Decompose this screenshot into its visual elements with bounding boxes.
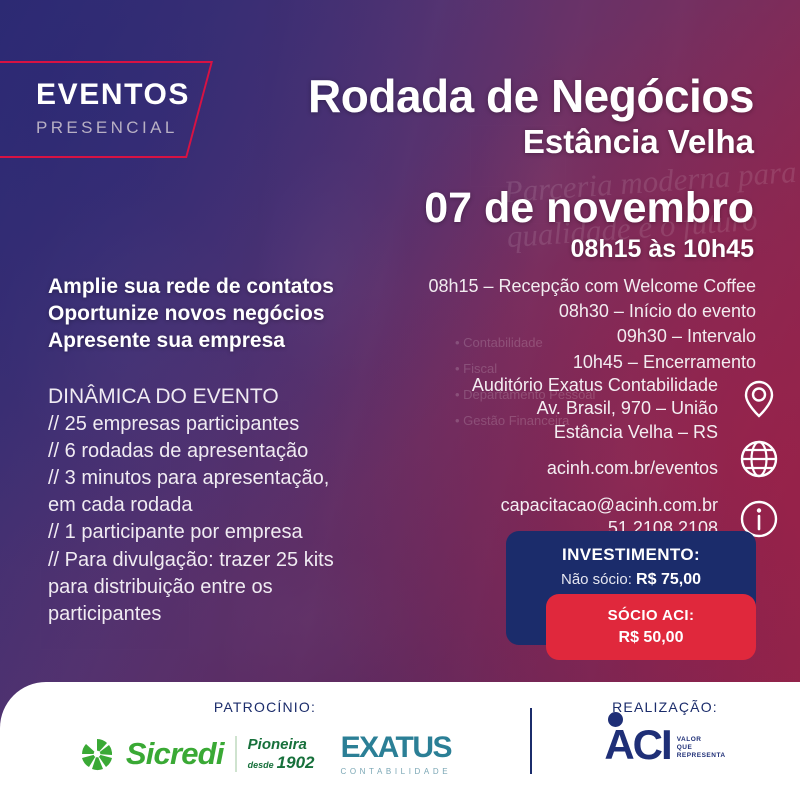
benefit-item: Apresente sua empresa <box>48 328 334 355</box>
sicredi-divider <box>235 736 237 772</box>
dynamics-line: // 6 rodadas de apresentação <box>48 438 388 465</box>
dynamics-line: // 1 participante por empresa <box>48 519 388 546</box>
dynamics-line: // Para divulgação: trazer 25 kits <box>48 547 388 574</box>
investment-card: INVESTIMENTO: Não sócio: R$ 75,00 SÓCIO … <box>506 531 756 645</box>
schedule-item: 08h30 – Início do evento <box>428 299 756 324</box>
eventos-badge: EVENTOS PRESENCIAL <box>36 80 190 136</box>
badge-title: EVENTOS <box>36 80 190 110</box>
location-pin-icon <box>738 378 780 420</box>
venue-address: Auditório Exatus Contabilidade Av. Brasi… <box>472 374 718 444</box>
investment-title: INVESTIMENTO: <box>506 545 756 565</box>
schedule-item: 09h30 – Intervalo <box>428 324 756 349</box>
aci-tagline: VALOR QUE REPRESENTA <box>677 736 726 765</box>
organizer-section: REALIZAÇÃO: ACI VALOR QUE REPRESENTA <box>530 682 800 800</box>
website-url[interactable]: acinh.com.br/eventos <box>472 457 718 480</box>
contact-icons <box>738 378 780 540</box>
sponsor-logos: Sicredi Pioneira desde 1902 EXATUS CON <box>0 731 530 776</box>
benefits-list: Amplie sua rede de contatos Oportunize n… <box>48 274 334 355</box>
sicredi-pioneira-tagline: Pioneira desde 1902 <box>248 737 315 771</box>
sicredi-wordmark: Sicredi <box>126 736 224 772</box>
member-label: SÓCIO ACI: <box>608 607 695 624</box>
nonmember-price-row: Não sócio: R$ 75,00 <box>506 571 756 589</box>
aci-tag-line-3: REPRESENTA <box>677 752 726 760</box>
email-address[interactable]: capacitacao@acinh.com.br <box>472 494 718 517</box>
member-price: R$ 50,00 <box>619 629 684 647</box>
venue-line: Auditório Exatus Contabilidade <box>472 374 718 397</box>
contact-block: Auditório Exatus Contabilidade Av. Brasi… <box>472 374 718 540</box>
exatus-subtitle: CONTABILIDADE <box>340 767 451 776</box>
organizer-label: REALIZAÇÃO: <box>530 699 800 715</box>
pioneira-text: Pioneira <box>248 737 315 752</box>
event-location-title: Estância Velha <box>308 121 754 162</box>
event-flyer: Parceria moderna para qualidade e o futu… <box>0 0 800 800</box>
sicredi-logo: Sicredi Pioneira desde 1902 <box>79 736 315 772</box>
globe-icon <box>738 438 780 480</box>
footer: PATROCÍNIO: <box>0 682 800 800</box>
dynamics-title: DINÂMICA DO EVENTO <box>48 383 388 411</box>
aci-tag-line-2: QUE <box>677 744 726 752</box>
exatus-wordmark: EXATUS <box>340 731 451 765</box>
member-price-badge: SÓCIO ACI: R$ 50,00 <box>546 594 756 660</box>
venue-line: Av. Brasil, 970 – União <box>472 397 718 420</box>
dynamics-line: em cada rodada <box>48 492 388 519</box>
aci-tag-line-1: VALOR <box>677 736 726 744</box>
event-title: Rodada de Negócios <box>308 72 754 121</box>
badge-subtitle: PRESENCIAL <box>36 119 190 136</box>
dynamics-block: DINÂMICA DO EVENTO // 25 empresas partic… <box>48 383 388 628</box>
dynamics-line: para distribuição entre os <box>48 574 388 601</box>
headline-block: Rodada de Negócios Estância Velha 07 de … <box>308 72 754 264</box>
benefit-item: Amplie sua rede de contatos <box>48 274 334 301</box>
dynamics-line: // 25 empresas participantes <box>48 411 388 438</box>
nonmember-price: R$ 75,00 <box>636 571 701 588</box>
exatus-logo: EXATUS CONTABILIDADE <box>340 731 451 776</box>
schedule-item: 10h45 – Encerramento <box>428 350 756 375</box>
website-link[interactable]: acinh.com.br/eventos <box>472 457 718 480</box>
aci-wordmark: ACI <box>604 725 670 765</box>
nonmember-label: Não sócio: <box>561 571 632 588</box>
pioneira-year: 1902 <box>277 754 315 771</box>
footer-divider <box>530 708 532 774</box>
event-date: 07 de novembro <box>308 186 754 231</box>
schedule-item: 08h15 – Recepção com Welcome Coffee <box>428 274 756 299</box>
venue-line: Estância Velha – RS <box>472 421 718 444</box>
sicredi-pinwheel-icon <box>79 736 115 772</box>
benefit-item: Oportunize novos negócios <box>48 301 334 328</box>
sponsor-label: PATROCÍNIO: <box>0 699 530 715</box>
desde-text: desde <box>248 761 274 770</box>
aci-logo: ACI VALOR QUE REPRESENTA <box>530 725 800 765</box>
event-time: 08h15 às 10h45 <box>308 235 754 264</box>
dynamics-line: participantes <box>48 601 388 628</box>
sponsors-section: PATROCÍNIO: <box>0 682 530 800</box>
dynamics-line: // 3 minutos para apresentação, <box>48 465 388 492</box>
schedule-list: 08h15 – Recepção com Welcome Coffee 08h3… <box>428 274 756 375</box>
